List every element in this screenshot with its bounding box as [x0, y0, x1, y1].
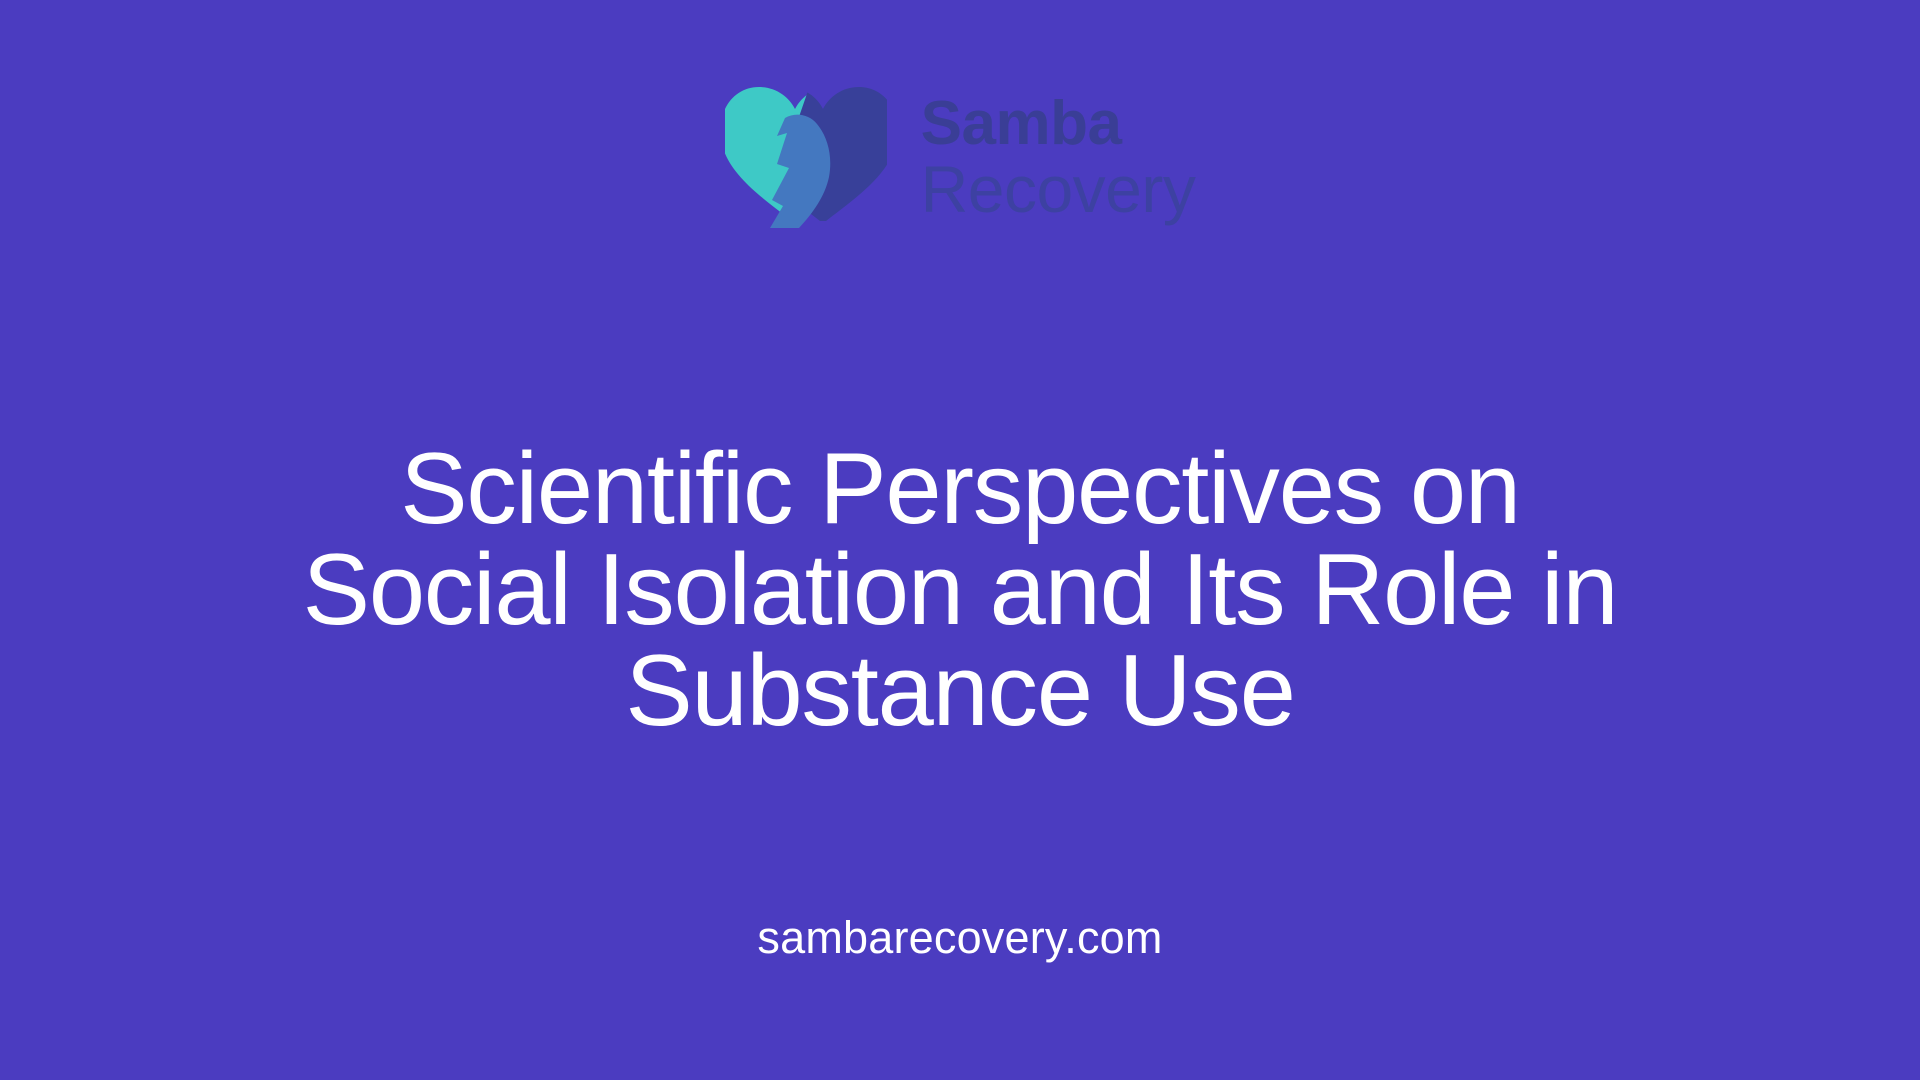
footer-url-text: sambarecovery.com: [757, 912, 1162, 963]
broken-heart-icon: [725, 82, 887, 232]
brand-name-top: Samba: [921, 95, 1196, 154]
brand-name-bottom: Recovery: [921, 156, 1196, 223]
page-title-line-2: Social Isolation and Its Role in: [230, 540, 1690, 641]
page-title-line-1: Scientific Perspectives on: [230, 439, 1690, 540]
page-title-line-3: Substance Use: [230, 641, 1690, 742]
brand-lockup: Samba Recovery: [0, 82, 1920, 232]
footer-url: sambarecovery.com: [0, 915, 1920, 960]
page-title: Scientific Perspectives on Social Isolat…: [230, 439, 1690, 742]
brand-wordmark: Samba Recovery: [921, 95, 1196, 223]
title-slide: Samba Recovery Scientific Perspectives o…: [0, 0, 1920, 1080]
